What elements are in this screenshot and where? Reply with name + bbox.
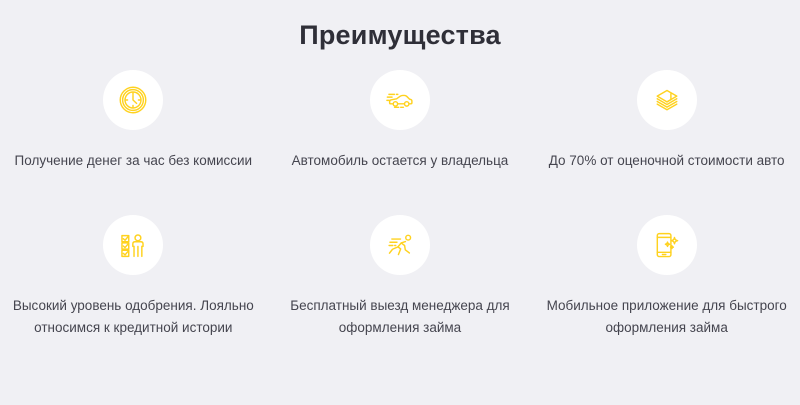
feature-item-manager-visit: Бесплатный выезд менеджера для оформлени… (267, 215, 534, 360)
feature-caption: Автомобиль остается у владельца (292, 150, 509, 172)
icon-badge (637, 215, 697, 275)
mobile-sparkle-icon (650, 228, 684, 262)
car-speed-icon (383, 83, 417, 117)
icon-badge (103, 70, 163, 130)
feature-caption: До 70% от оценочной стоимости авто (549, 150, 785, 172)
feature-item-mobile-app: Мобильное приложение для быстрого оформл… (533, 215, 800, 360)
clock-icon (116, 83, 150, 117)
feature-item-approval: Высокий уровень одобрения. Лояльно относ… (0, 215, 267, 360)
feature-item-car: Автомобиль остается у владельца (267, 70, 534, 215)
checklist-person-icon (116, 228, 150, 262)
icon-badge (103, 215, 163, 275)
feature-item-clock: Получение денег за час без комиссии (0, 70, 267, 215)
feature-caption: Мобильное приложение для быстрого оформл… (547, 295, 787, 339)
icon-badge (637, 70, 697, 130)
icon-badge (370, 215, 430, 275)
page-title: Преимущества (0, 0, 800, 52)
advantages-section: Преимущества Получени (0, 0, 800, 405)
feature-item-money: До 70% от оценочной стоимости авто (533, 70, 800, 215)
icon-badge (370, 70, 430, 130)
feature-caption: Высокий уровень одобрения. Лояльно относ… (13, 295, 254, 339)
feature-caption: Получение денег за час без комиссии (15, 150, 253, 172)
features-grid: Получение денег за час без комиссии (0, 70, 800, 360)
money-stack-icon (650, 83, 684, 117)
feature-caption: Бесплатный выезд менеджера для оформлени… (290, 295, 509, 339)
running-person-icon (383, 228, 417, 262)
